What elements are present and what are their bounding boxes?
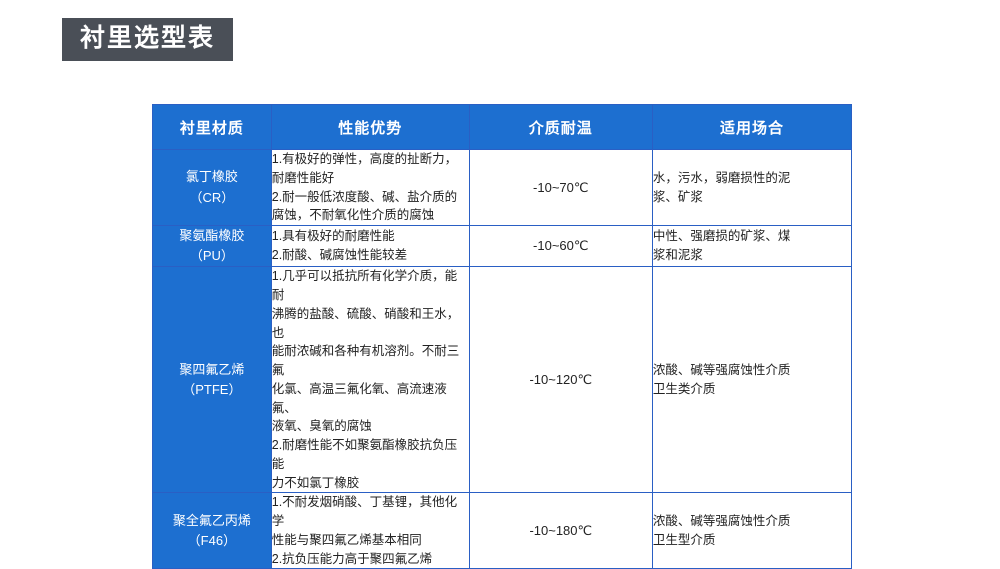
- advantage-line: 1.不耐发烟硝酸、丁基锂，其他化学: [272, 493, 469, 531]
- cell-usage: 浓酸、碱等强腐蚀性介质 卫生类介质: [652, 267, 851, 493]
- table-row: 聚全氟乙丙烯 （F46） 1.不耐发烟硝酸、丁基锂，其他化学 性能与聚四氟乙烯基…: [153, 493, 852, 569]
- page-root: 衬里选型表 衬里材质 性能优势 介质耐温 适用场合 氯丁橡胶 （CR）: [0, 0, 1000, 536]
- material-code: （PU）: [153, 246, 271, 266]
- table-row: 聚氨酯橡胶 （PU） 1.具有极好的耐磨性能 2.耐酸、碱腐蚀性能较差 -10~…: [153, 226, 852, 267]
- cell-material: 聚四氟乙烯 （PTFE）: [153, 267, 272, 493]
- usage-line: 中性、强磨损的矿浆、煤: [653, 227, 851, 246]
- cell-temperature: -10~180℃: [469, 493, 652, 569]
- advantage-line: 液氧、臭氧的腐蚀: [272, 417, 469, 436]
- table-header-row: 衬里材质 性能优势 介质耐温 适用场合: [153, 105, 852, 150]
- material-name: 氯丁橡胶: [153, 167, 271, 187]
- table-row: 氯丁橡胶 （CR） 1.有极好的弹性，高度的扯断力， 耐磨性能好 2.耐一般低浓…: [153, 150, 852, 226]
- cell-usage: 浓酸、碱等强腐蚀性介质 卫生型介质: [652, 493, 851, 569]
- cell-advantages: 1.不耐发烟硝酸、丁基锂，其他化学 性能与聚四氟乙烯基本相同 2.抗负压能力高于…: [271, 493, 469, 569]
- advantage-line: 性能与聚四氟乙烯基本相同: [272, 531, 469, 550]
- advantage-line: 2.抗负压能力高于聚四氟乙烯: [272, 550, 469, 569]
- cell-advantages: 1.具有极好的耐磨性能 2.耐酸、碱腐蚀性能较差: [271, 226, 469, 267]
- cell-temperature: -10~120℃: [469, 267, 652, 493]
- table-header: 衬里材质 性能优势 介质耐温 适用场合: [153, 105, 852, 150]
- lining-selection-table-container: 衬里材质 性能优势 介质耐温 适用场合 氯丁橡胶 （CR） 1.有极好的弹性，高…: [152, 104, 852, 569]
- cell-usage: 水，污水，弱磨损性的泥 浆、矿浆: [652, 150, 851, 226]
- material-code: （F46）: [153, 531, 271, 551]
- cell-material: 氯丁橡胶 （CR）: [153, 150, 272, 226]
- advantage-line: 力不如氯丁橡胶: [272, 474, 469, 493]
- advantage-line: 耐磨性能好: [272, 169, 469, 188]
- material-code: （PTFE）: [153, 380, 271, 400]
- advantage-line: 能耐浓碱和各种有机溶剂。不耐三氟: [272, 342, 469, 380]
- cell-advantages: 1.几乎可以抵抗所有化学介质，能耐 沸腾的盐酸、硫酸、硝酸和王水，也 能耐浓碱和…: [271, 267, 469, 493]
- table-body: 氯丁橡胶 （CR） 1.有极好的弹性，高度的扯断力， 耐磨性能好 2.耐一般低浓…: [153, 150, 852, 569]
- advantage-line: 沸腾的盐酸、硫酸、硝酸和王水，也: [272, 305, 469, 343]
- usage-line: 卫生类介质: [653, 380, 851, 399]
- advantage-line: 2.耐磨性能不如聚氨酯橡胶抗负压能: [272, 436, 469, 474]
- material-name: 聚氨酯橡胶: [153, 226, 271, 246]
- page-title: 衬里选型表: [62, 18, 233, 61]
- cell-temperature: -10~60℃: [469, 226, 652, 267]
- column-header-material: 衬里材质: [153, 105, 272, 150]
- advantage-line: 1.有极好的弹性，高度的扯断力，: [272, 150, 469, 169]
- advantage-line: 1.几乎可以抵抗所有化学介质，能耐: [272, 267, 469, 305]
- column-header-temperature: 介质耐温: [469, 105, 652, 150]
- advantage-line: 化氯、高温三氟化氧、高流速液氟、: [272, 380, 469, 418]
- table-row: 聚四氟乙烯 （PTFE） 1.几乎可以抵抗所有化学介质，能耐 沸腾的盐酸、硫酸、…: [153, 267, 852, 493]
- cell-material: 聚氨酯橡胶 （PU）: [153, 226, 272, 267]
- advantage-line: 1.具有极好的耐磨性能: [272, 227, 469, 246]
- column-header-advantages: 性能优势: [271, 105, 469, 150]
- usage-line: 水，污水，弱磨损性的泥: [653, 169, 851, 188]
- advantage-line: 2.耐酸、碱腐蚀性能较差: [272, 246, 469, 265]
- usage-line: 卫生型介质: [653, 531, 851, 550]
- lining-selection-table: 衬里材质 性能优势 介质耐温 适用场合 氯丁橡胶 （CR） 1.有极好的弹性，高…: [152, 104, 852, 569]
- cell-material: 聚全氟乙丙烯 （F46）: [153, 493, 272, 569]
- usage-line: 浓酸、碱等强腐蚀性介质: [653, 361, 851, 380]
- advantage-line: 腐蚀，不耐氧化性介质的腐蚀: [272, 206, 469, 225]
- column-header-usage: 适用场合: [652, 105, 851, 150]
- usage-line: 浆、矿浆: [653, 188, 851, 207]
- cell-temperature: -10~70℃: [469, 150, 652, 226]
- advantage-line: 2.耐一般低浓度酸、碱、盐介质的: [272, 188, 469, 207]
- cell-usage: 中性、强磨损的矿浆、煤 浆和泥浆: [652, 226, 851, 267]
- usage-line: 浓酸、碱等强腐蚀性介质: [653, 512, 851, 531]
- material-name: 聚四氟乙烯: [153, 360, 271, 380]
- material-name: 聚全氟乙丙烯: [153, 511, 271, 531]
- usage-line: 浆和泥浆: [653, 246, 851, 265]
- cell-advantages: 1.有极好的弹性，高度的扯断力， 耐磨性能好 2.耐一般低浓度酸、碱、盐介质的 …: [271, 150, 469, 226]
- material-code: （CR）: [153, 188, 271, 208]
